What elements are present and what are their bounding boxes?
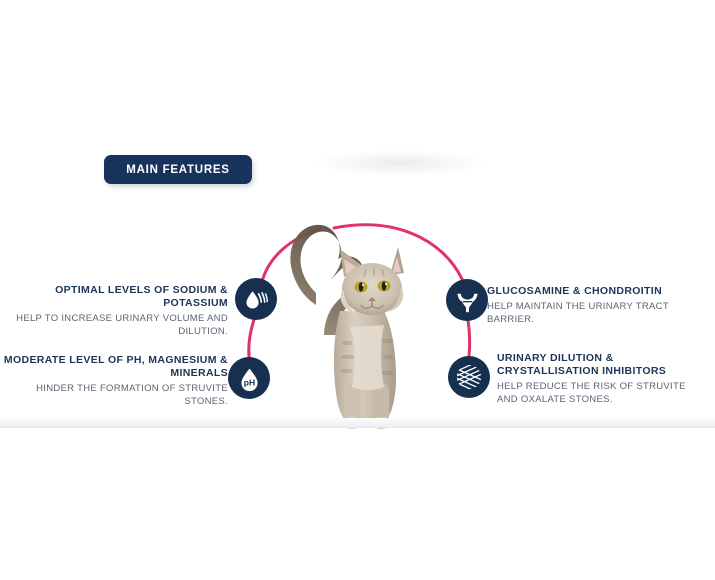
feature-title: OPTIMAL LEVELS OF SODIUM & POTASSIUM [0, 284, 228, 310]
bladder-icon [446, 279, 488, 321]
feature-description: HELP REDUCE THE RISK OF STRUVITE AND OXA… [497, 380, 697, 406]
feature-description: HELP TO INCREASE URINARY VOLUME AND DILU… [0, 312, 228, 338]
crystal-lattice-icon [448, 356, 490, 398]
feature-glucosamine-chondroitin: GLUCOSAMINE & CHONDROITIN HELP MAINTAIN … [487, 285, 692, 326]
feature-title: GLUCOSAMINE & CHONDROITIN [487, 285, 692, 298]
ph-droplet-icon: pH [228, 357, 270, 399]
water-droplets-icon [235, 278, 277, 320]
feature-urinary-dilution-crystallisation: URINARY DILUTION & CRYSTALLISATION INHIB… [497, 352, 697, 406]
main-features-label: MAIN FEATURES [126, 164, 229, 176]
section-divider [0, 427, 715, 428]
main-features-badge: MAIN FEATURES [104, 155, 252, 184]
svg-text:pH: pH [243, 377, 254, 387]
infographic-canvas: MAIN FEATURES pH [0, 0, 715, 580]
feature-description: HINDER THE FORMATION OF STRUVITE STONES. [0, 382, 228, 408]
feature-title: MODERATE LEVEL OF PH, MAGNESIUM & MINERA… [0, 354, 228, 380]
feature-sodium-potassium: OPTIMAL LEVELS OF SODIUM & POTASSIUM HEL… [0, 284, 228, 338]
feature-description: HELP MAINTAIN THE URINARY TRACT BARRIER. [487, 300, 692, 326]
feature-ph-magnesium-minerals: MODERATE LEVEL OF PH, MAGNESIUM & MINERA… [0, 354, 228, 408]
feature-title: URINARY DILUTION & CRYSTALLISATION INHIB… [497, 352, 697, 378]
tabby-cat-photo [286, 215, 446, 430]
